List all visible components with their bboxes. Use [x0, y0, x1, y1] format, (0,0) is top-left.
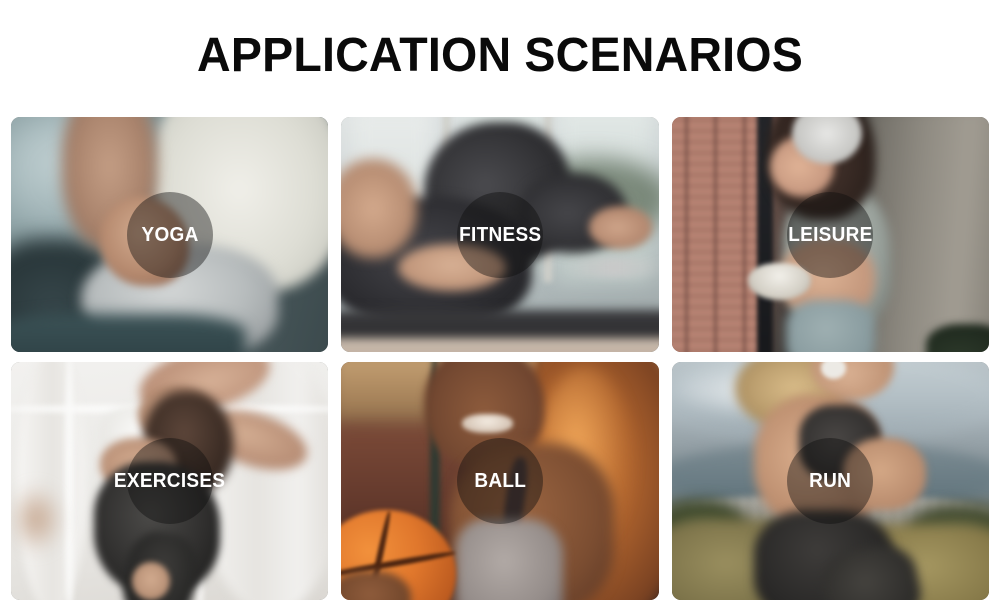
- application-scenarios-page: APPLICATION SCENARIOS YOGA FITNESS: [0, 0, 1000, 610]
- scenario-label-exercises: EXERCISES: [11, 470, 328, 492]
- scenario-label-fitness: FITNESS: [341, 224, 658, 246]
- scenario-card-fitness[interactable]: FITNESS: [341, 117, 658, 352]
- scenario-card-yoga[interactable]: YOGA: [11, 117, 328, 352]
- page-title: APPLICATION SCENARIOS: [15, 22, 985, 90]
- scenario-card-ball[interactable]: BALL: [341, 362, 658, 600]
- scenario-card-exercises[interactable]: EXERCISES: [11, 362, 328, 600]
- scenario-label-leisure: LEISURE: [672, 224, 989, 246]
- scenario-card-leisure[interactable]: LEISURE: [672, 117, 989, 352]
- scenario-card-grid: YOGA FITNESS LEISUR: [11, 117, 989, 600]
- scenario-label-ball: BALL: [341, 470, 658, 492]
- scenario-label-run: RUN: [672, 470, 989, 492]
- scenario-label-yoga: YOGA: [11, 224, 328, 246]
- scenario-card-run[interactable]: RUN: [672, 362, 989, 600]
